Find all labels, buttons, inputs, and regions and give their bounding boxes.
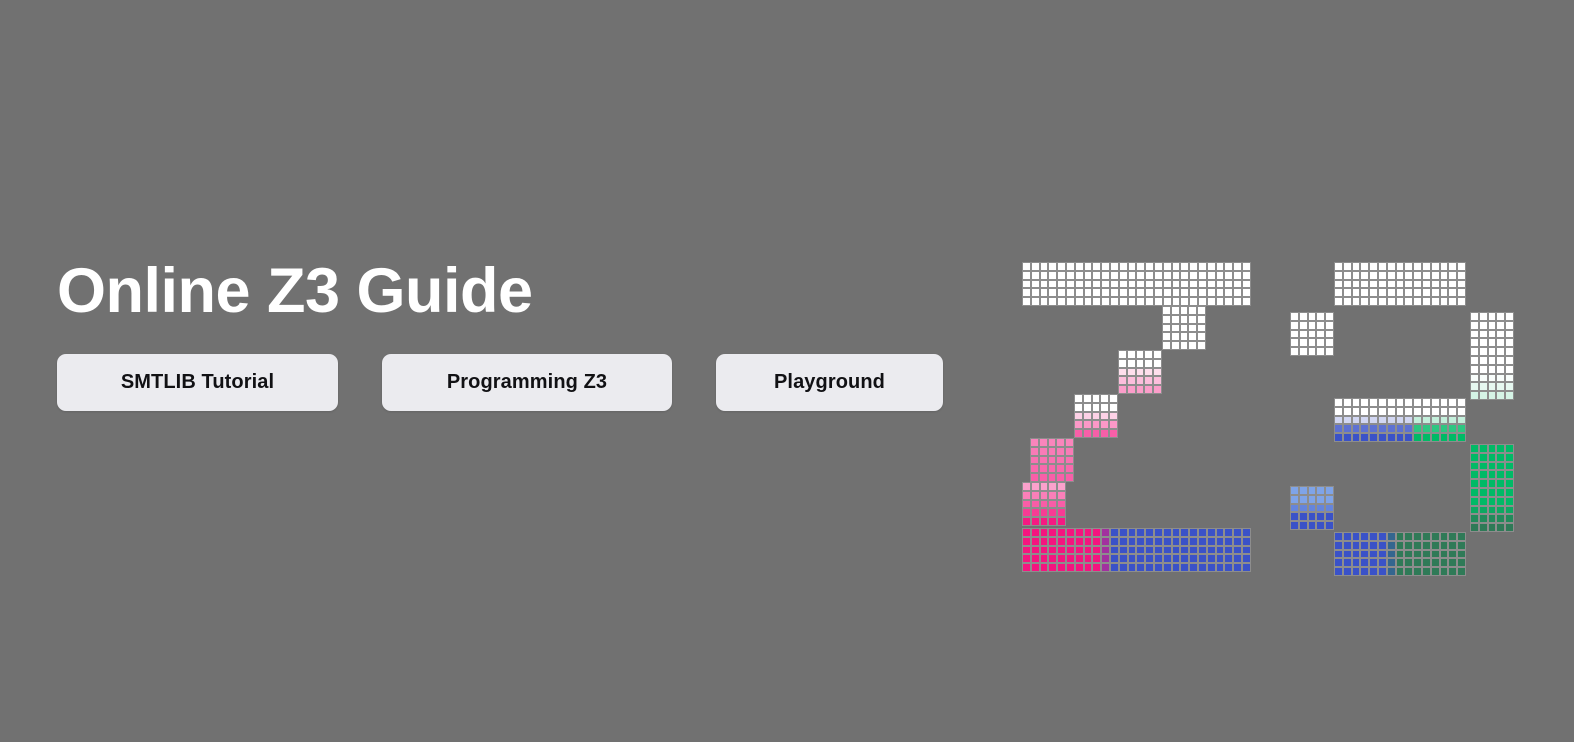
logo-pixel	[1448, 398, 1457, 407]
logo-pixel	[1031, 288, 1040, 297]
logo-pixel	[1448, 541, 1457, 550]
logo-pixel	[1448, 558, 1457, 567]
logo-pixel	[1162, 315, 1171, 324]
logo-pixel	[1360, 271, 1369, 280]
logo-pixel	[1431, 424, 1440, 433]
logo-pixel	[1189, 288, 1198, 297]
logo-pixel	[1422, 407, 1431, 416]
logo-pixel	[1040, 297, 1049, 306]
logo-pixel	[1189, 546, 1198, 555]
logo-block-z-bottom-bar	[1022, 528, 1251, 572]
logo-pixel	[1136, 280, 1145, 289]
logo-pixel	[1308, 504, 1317, 513]
logo-pixel	[1431, 271, 1440, 280]
logo-pixel	[1188, 324, 1197, 333]
logo-pixel	[1242, 563, 1251, 572]
logo-pixel	[1180, 297, 1189, 306]
logo-pixel	[1154, 288, 1163, 297]
logo-pixel	[1144, 368, 1153, 377]
logo-pixel	[1488, 444, 1497, 453]
logo-pixel	[1470, 365, 1479, 374]
logo-pixel	[1031, 297, 1040, 306]
logo-pixel	[1056, 438, 1065, 447]
logo-pixel	[1479, 321, 1488, 330]
logo-pixel	[1048, 464, 1057, 473]
logo-pixel	[1153, 376, 1162, 385]
logo-pixel	[1022, 262, 1031, 271]
logo-pixel	[1083, 412, 1092, 421]
logo-pixel	[1440, 297, 1449, 306]
logo-pixel	[1065, 447, 1074, 456]
logo-pixel	[1030, 456, 1039, 465]
logo-pixel	[1198, 288, 1207, 297]
logo-block-three-bottom-bar	[1334, 532, 1466, 576]
logo-pixel	[1224, 528, 1233, 537]
logo-pixel	[1413, 558, 1422, 567]
logo-block-three-top-left	[1290, 312, 1334, 356]
logo-pixel	[1057, 546, 1066, 555]
logo-pixel	[1128, 280, 1137, 289]
logo-pixel	[1496, 523, 1505, 532]
logo-block-z-diag-4	[1030, 438, 1074, 482]
logo-pixel	[1119, 288, 1128, 297]
logo-pixel	[1496, 374, 1505, 383]
logo-pixel	[1488, 330, 1497, 339]
logo-pixel	[1505, 321, 1514, 330]
logo-pixel	[1084, 262, 1093, 271]
logo-pixel	[1162, 324, 1171, 333]
logo-pixel	[1022, 554, 1031, 563]
logo-pixel	[1378, 262, 1387, 271]
logo-pixel	[1031, 482, 1040, 491]
logo-pixel	[1056, 456, 1065, 465]
logo-pixel	[1396, 567, 1405, 576]
logo-pixel	[1197, 341, 1206, 350]
logo-pixel	[1440, 567, 1449, 576]
logo-pixel	[1056, 464, 1065, 473]
logo-pixel	[1448, 424, 1457, 433]
logo-pixel	[1334, 297, 1343, 306]
logo-pixel	[1396, 262, 1405, 271]
logo-pixel	[1057, 554, 1066, 563]
logo-pixel	[1083, 420, 1092, 429]
logo-pixel	[1343, 416, 1352, 425]
logo-pixel	[1308, 495, 1317, 504]
logo-pixel	[1440, 398, 1449, 407]
logo-pixel	[1352, 558, 1361, 567]
logo-pixel	[1488, 488, 1497, 497]
logo-pixel	[1440, 288, 1449, 297]
logo-pixel	[1144, 385, 1153, 394]
logo-pixel	[1180, 554, 1189, 563]
logo-pixel	[1457, 297, 1466, 306]
logo-pixel	[1308, 330, 1317, 339]
logo-pixel	[1048, 517, 1057, 526]
logo-pixel	[1040, 528, 1049, 537]
logo-pixel	[1065, 464, 1074, 473]
logo-pixel	[1343, 424, 1352, 433]
logo-pixel	[1290, 521, 1299, 530]
logo-pixel	[1100, 412, 1109, 421]
logo-pixel	[1031, 546, 1040, 555]
logo-pixel	[1163, 280, 1172, 289]
logo-pixel	[1030, 447, 1039, 456]
logo-pixel	[1422, 271, 1431, 280]
logo-pixel	[1440, 416, 1449, 425]
logo-pixel	[1488, 506, 1497, 515]
logo-pixel	[1207, 554, 1216, 563]
logo-pixel	[1448, 567, 1457, 576]
page-title: Online Z3 Guide	[57, 258, 957, 324]
logo-pixel	[1413, 567, 1422, 576]
logo-pixel	[1040, 546, 1049, 555]
logo-pixel	[1216, 288, 1225, 297]
logo-pixel	[1360, 262, 1369, 271]
logo-pixel	[1479, 506, 1488, 515]
logo-pixel	[1308, 338, 1317, 347]
logo-pixel	[1188, 341, 1197, 350]
logo-pixel	[1440, 262, 1449, 271]
logo-pixel	[1022, 297, 1031, 306]
logo-pixel	[1378, 280, 1387, 289]
logo-pixel	[1119, 546, 1128, 555]
logo-pixel	[1360, 416, 1369, 425]
logo-pixel	[1092, 412, 1101, 421]
logo-pixel	[1470, 356, 1479, 365]
z3-pixel-logo	[1022, 262, 1514, 578]
logo-pixel	[1387, 407, 1396, 416]
logo-pixel	[1066, 271, 1075, 280]
logo-pixel	[1154, 554, 1163, 563]
logo-pixel	[1431, 398, 1440, 407]
logo-pixel	[1316, 504, 1325, 513]
logo-pixel	[1360, 407, 1369, 416]
logo-pixel	[1031, 500, 1040, 509]
logo-pixel	[1048, 500, 1057, 509]
logo-pixel	[1136, 528, 1145, 537]
logo-pixel	[1242, 528, 1251, 537]
logo-pixel	[1136, 385, 1145, 394]
logo-pixel	[1334, 532, 1343, 541]
logo-pixel	[1387, 558, 1396, 567]
logo-pixel	[1084, 280, 1093, 289]
logo-pixel	[1334, 541, 1343, 550]
logo-pixel	[1496, 330, 1505, 339]
logo-pixel	[1040, 280, 1049, 289]
logo-pixel	[1180, 324, 1189, 333]
logo-pixel	[1479, 444, 1488, 453]
logo-pixel	[1216, 297, 1225, 306]
logo-pixel	[1404, 532, 1413, 541]
smtlib-tutorial-button[interactable]: SMTLIB Tutorial	[57, 354, 338, 411]
logo-pixel	[1154, 297, 1163, 306]
logo-pixel	[1153, 359, 1162, 368]
logo-pixel	[1470, 488, 1479, 497]
logo-pixel	[1470, 312, 1479, 321]
logo-pixel	[1505, 330, 1514, 339]
logo-pixel	[1057, 517, 1066, 526]
logo-pixel	[1180, 563, 1189, 572]
logo-pixel	[1057, 271, 1066, 280]
logo-pixel	[1031, 563, 1040, 572]
logo-pixel	[1413, 297, 1422, 306]
logo-pixel	[1197, 332, 1206, 341]
logo-pixel	[1479, 338, 1488, 347]
logo-pixel	[1040, 563, 1049, 572]
logo-pixel	[1422, 416, 1431, 425]
logo-pixel	[1496, 462, 1505, 471]
logo-pixel	[1422, 288, 1431, 297]
logo-pixel	[1448, 271, 1457, 280]
logo-pixel	[1128, 297, 1137, 306]
logo-pixel	[1109, 420, 1118, 429]
hero-section: Online Z3 Guide SMTLIB Tutorial Programm…	[57, 258, 957, 411]
logo-pixel	[1396, 416, 1405, 425]
logo-pixel	[1343, 271, 1352, 280]
logo-pixel	[1387, 567, 1396, 576]
logo-pixel	[1378, 567, 1387, 576]
logo-pixel	[1145, 563, 1154, 572]
logo-pixel	[1431, 532, 1440, 541]
logo-pixel	[1163, 554, 1172, 563]
logo-pixel	[1299, 504, 1308, 513]
logo-pixel	[1092, 280, 1101, 289]
logo-pixel	[1299, 338, 1308, 347]
logo-pixel	[1387, 541, 1396, 550]
logo-pixel	[1171, 315, 1180, 324]
logo-pixel	[1084, 554, 1093, 563]
logo-pixel	[1387, 288, 1396, 297]
logo-pixel	[1242, 288, 1251, 297]
logo-pixel	[1101, 262, 1110, 271]
logo-pixel	[1369, 433, 1378, 442]
logo-pixel	[1496, 497, 1505, 506]
logo-pixel	[1145, 528, 1154, 537]
logo-pixel	[1378, 558, 1387, 567]
logo-block-three-top-bar	[1334, 262, 1466, 306]
logo-pixel	[1505, 365, 1514, 374]
logo-pixel	[1198, 280, 1207, 289]
logo-pixel	[1188, 332, 1197, 341]
logo-pixel	[1171, 324, 1180, 333]
logo-pixel	[1325, 321, 1334, 330]
logo-pixel	[1048, 546, 1057, 555]
logo-pixel	[1470, 321, 1479, 330]
logo-pixel	[1488, 453, 1497, 462]
logo-pixel	[1360, 288, 1369, 297]
logo-pixel	[1189, 537, 1198, 546]
logo-pixel	[1457, 550, 1466, 559]
logo-pixel	[1172, 271, 1181, 280]
logo-pixel	[1180, 341, 1189, 350]
logo-pixel	[1360, 558, 1369, 567]
logo-pixel	[1163, 537, 1172, 546]
logo-pixel	[1505, 374, 1514, 383]
logo-pixel	[1334, 416, 1343, 425]
logo-pixel	[1092, 262, 1101, 271]
logo-pixel	[1470, 444, 1479, 453]
logo-pixel	[1198, 563, 1207, 572]
logo-pixel	[1396, 558, 1405, 567]
logo-pixel	[1144, 376, 1153, 385]
programming-z3-button[interactable]: Programming Z3	[382, 354, 672, 411]
logo-pixel	[1496, 470, 1505, 479]
logo-pixel	[1109, 429, 1118, 438]
logo-pixel	[1448, 532, 1457, 541]
logo-pixel	[1128, 262, 1137, 271]
logo-pixel	[1457, 407, 1466, 416]
logo-pixel	[1378, 416, 1387, 425]
logo-pixel	[1352, 288, 1361, 297]
logo-pixel	[1299, 347, 1308, 356]
logo-pixel	[1048, 297, 1057, 306]
logo-pixel	[1154, 262, 1163, 271]
logo-pixel	[1387, 532, 1396, 541]
logo-block-three-upper-right	[1470, 312, 1514, 400]
logo-pixel	[1378, 424, 1387, 433]
logo-pixel	[1075, 563, 1084, 572]
logo-pixel	[1457, 416, 1466, 425]
logo-pixel	[1343, 541, 1352, 550]
logo-pixel	[1127, 376, 1136, 385]
logo-pixel	[1448, 407, 1457, 416]
logo-pixel	[1325, 312, 1334, 321]
logo-pixel	[1479, 462, 1488, 471]
logo-pixel	[1048, 491, 1057, 500]
logo-pixel	[1413, 407, 1422, 416]
logo-pixel	[1030, 464, 1039, 473]
logo-pixel	[1066, 297, 1075, 306]
logo-pixel	[1396, 550, 1405, 559]
logo-pixel	[1022, 563, 1031, 572]
playground-button[interactable]: Playground	[716, 354, 943, 411]
logo-pixel	[1343, 433, 1352, 442]
logo-pixel	[1198, 271, 1207, 280]
logo-pixel	[1396, 541, 1405, 550]
logo-pixel	[1457, 532, 1466, 541]
logo-pixel	[1119, 537, 1128, 546]
logo-pixel	[1110, 271, 1119, 280]
logo-pixel	[1457, 433, 1466, 442]
logo-pixel	[1290, 347, 1299, 356]
logo-pixel	[1128, 546, 1137, 555]
logo-pixel	[1092, 429, 1101, 438]
logo-pixel	[1316, 521, 1325, 530]
logo-pixel	[1352, 280, 1361, 289]
hero-button-row: SMTLIB Tutorial Programming Z3 Playgroun…	[57, 354, 957, 411]
logo-pixel	[1369, 297, 1378, 306]
logo-pixel	[1066, 563, 1075, 572]
logo-pixel	[1378, 271, 1387, 280]
logo-pixel	[1488, 374, 1497, 383]
logo-pixel	[1431, 262, 1440, 271]
logo-pixel	[1048, 438, 1057, 447]
logo-pixel	[1360, 550, 1369, 559]
logo-pixel	[1369, 558, 1378, 567]
logo-pixel	[1325, 521, 1334, 530]
logo-pixel	[1039, 438, 1048, 447]
logo-pixel	[1470, 382, 1479, 391]
logo-pixel	[1207, 537, 1216, 546]
logo-pixel	[1431, 433, 1440, 442]
logo-pixel	[1360, 398, 1369, 407]
logo-pixel	[1316, 512, 1325, 521]
logo-pixel	[1422, 280, 1431, 289]
logo-pixel	[1031, 280, 1040, 289]
logo-pixel	[1404, 407, 1413, 416]
logo-pixel	[1022, 508, 1031, 517]
logo-pixel	[1422, 558, 1431, 567]
logo-pixel	[1145, 271, 1154, 280]
logo-pixel	[1092, 420, 1101, 429]
logo-pixel	[1110, 528, 1119, 537]
logo-pixel	[1145, 280, 1154, 289]
logo-pixel	[1396, 297, 1405, 306]
logo-pixel	[1352, 297, 1361, 306]
logo-pixel	[1101, 546, 1110, 555]
logo-pixel	[1505, 347, 1514, 356]
logo-pixel	[1022, 500, 1031, 509]
logo-pixel	[1119, 262, 1128, 271]
logo-pixel	[1470, 330, 1479, 339]
logo-pixel	[1163, 271, 1172, 280]
logo-pixel	[1470, 338, 1479, 347]
logo-pixel	[1496, 365, 1505, 374]
logo-pixel	[1233, 528, 1242, 537]
logo-pixel	[1057, 297, 1066, 306]
logo-pixel	[1162, 341, 1171, 350]
logo-pixel	[1136, 563, 1145, 572]
logo-pixel	[1440, 424, 1449, 433]
logo-pixel	[1224, 537, 1233, 546]
logo-pixel	[1172, 546, 1181, 555]
logo-pixel	[1496, 382, 1505, 391]
logo-pixel	[1180, 332, 1189, 341]
logo-pixel	[1479, 347, 1488, 356]
logo-pixel	[1479, 356, 1488, 365]
logo-pixel	[1505, 312, 1514, 321]
logo-pixel	[1352, 550, 1361, 559]
logo-pixel	[1352, 407, 1361, 416]
logo-pixel	[1100, 420, 1109, 429]
logo-pixel	[1056, 473, 1065, 482]
logo-pixel	[1022, 280, 1031, 289]
logo-pixel	[1334, 398, 1343, 407]
logo-pixel	[1488, 338, 1497, 347]
logo-pixel	[1092, 537, 1101, 546]
logo-pixel	[1216, 271, 1225, 280]
logo-pixel	[1066, 280, 1075, 289]
logo-pixel	[1360, 541, 1369, 550]
logo-pixel	[1308, 512, 1317, 521]
logo-pixel	[1360, 424, 1369, 433]
logo-pixel	[1325, 504, 1334, 513]
logo-pixel	[1092, 394, 1101, 403]
logo-pixel	[1470, 462, 1479, 471]
logo-pixel	[1404, 398, 1413, 407]
logo-pixel	[1396, 288, 1405, 297]
logo-pixel	[1316, 312, 1325, 321]
logo-pixel	[1413, 271, 1422, 280]
logo-pixel	[1127, 350, 1136, 359]
logo-pixel	[1325, 347, 1334, 356]
logo-pixel	[1387, 398, 1396, 407]
logo-pixel	[1075, 528, 1084, 537]
logo-pixel	[1101, 537, 1110, 546]
logo-pixel	[1470, 453, 1479, 462]
logo-pixel	[1343, 280, 1352, 289]
logo-pixel	[1022, 288, 1031, 297]
